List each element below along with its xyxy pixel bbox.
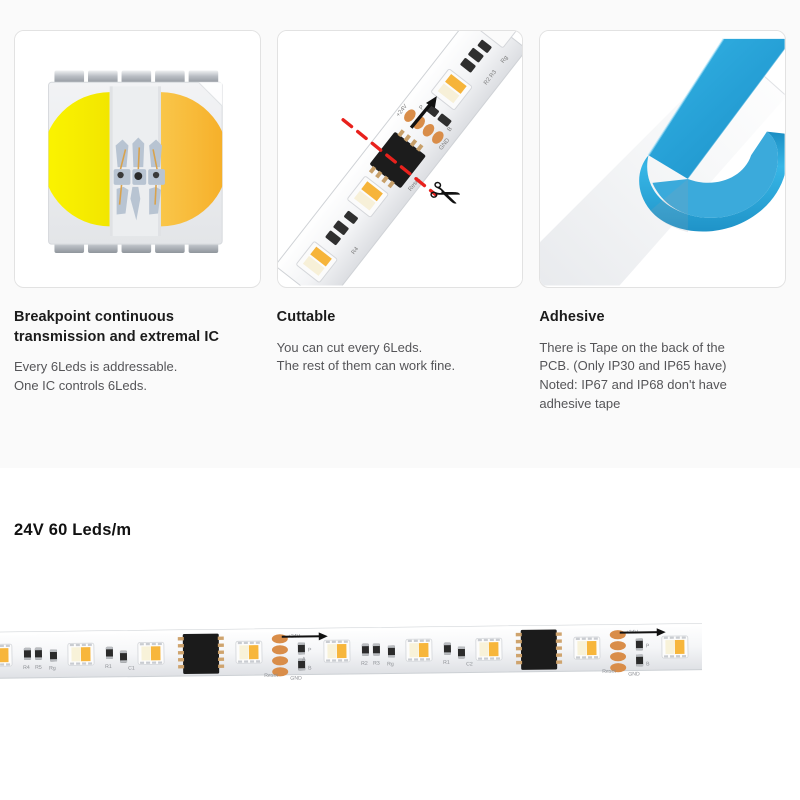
svg-text:Rg: Rg xyxy=(387,661,394,667)
svg-text:GND: GND xyxy=(628,671,640,677)
feature-title-adhesive: Adhesive xyxy=(539,308,780,328)
svg-text:B: B xyxy=(646,661,650,667)
body-line: adhesive tape xyxy=(539,395,780,414)
body-line: There is Tape on the back of the xyxy=(539,339,780,358)
svg-text:Reset: Reset xyxy=(264,673,278,679)
body-line: One IC controls 6Leds. xyxy=(14,377,255,396)
feature-body-breakpoint: Every 6Leds is addressable. One IC contr… xyxy=(14,358,255,396)
feature-cards-row: +24V GND P B R4 R2 R3 Rg Reset xyxy=(14,30,786,290)
feature-card-cuttable: +24V GND P B R4 R2 R3 Rg Reset xyxy=(277,30,524,288)
contact-pads-top xyxy=(54,70,218,83)
svg-text:R2: R2 xyxy=(361,661,368,667)
svg-text:R1: R1 xyxy=(443,660,450,666)
svg-text:B: B xyxy=(308,665,312,671)
spec-heading: 24V 60 Leds/m xyxy=(14,521,131,540)
led-strip-cut-photo: +24V GND P B R4 R2 R3 Rg Reset xyxy=(278,31,523,286)
svg-text:R1: R1 xyxy=(105,664,112,670)
feature-text-adhesive: Adhesive There is Tape on the back of th… xyxy=(539,308,786,414)
svg-text:GND: GND xyxy=(290,676,302,682)
feature-text-breakpoint: Breakpoint continuous transmission and e… xyxy=(14,308,261,414)
svg-text:P: P xyxy=(646,643,650,649)
title-line: Adhesive xyxy=(539,308,780,328)
title-line: Breakpoint continuous xyxy=(14,308,255,328)
svg-text:R4: R4 xyxy=(23,665,30,671)
feature-texts-row: Breakpoint continuous transmission and e… xyxy=(14,308,786,414)
svg-text:R3: R3 xyxy=(373,661,380,667)
led-strip-svg: R4 R5 Rg R1 C1 +24V GND P B A Reset R2 R… xyxy=(0,620,702,690)
feature-body-adhesive: There is Tape on the back of the PCB. (O… xyxy=(539,339,780,414)
svg-text:P: P xyxy=(308,647,312,653)
svg-text:C1: C1 xyxy=(128,666,135,672)
body-line: You can cut every 6Leds. xyxy=(277,339,518,358)
spec-section: 24V 60 Leds/m 100 mm 12 mm 12 mm xyxy=(0,468,800,800)
title-line: transmission and extremal IC xyxy=(14,328,255,348)
svg-text:Reset: Reset xyxy=(602,669,616,675)
feature-card-breakpoint xyxy=(14,30,261,288)
body-line: PCB. (Only IP30 and IP65 have) xyxy=(539,357,780,376)
svg-text:C2: C2 xyxy=(466,661,473,667)
title-line: Cuttable xyxy=(277,308,518,328)
led-chip-photo xyxy=(15,31,260,286)
svg-text:R5: R5 xyxy=(35,665,42,671)
feature-text-cuttable: Cuttable You can cut every 6Leds. The re… xyxy=(277,308,524,414)
body-line: The rest of them can work fine. xyxy=(277,357,518,376)
product-infographic: +24V GND P B R4 R2 R3 Rg Reset xyxy=(0,0,800,800)
feature-title-cuttable: Cuttable xyxy=(277,308,518,328)
feature-title-breakpoint: Breakpoint continuous transmission and e… xyxy=(14,308,255,347)
feature-body-cuttable: You can cut every 6Leds. The rest of the… xyxy=(277,339,518,377)
led-strip-diagram: R4 R5 Rg R1 C1 +24V GND P B A Reset R2 R… xyxy=(0,620,692,690)
features-section: +24V GND P B R4 R2 R3 Rg Reset xyxy=(0,0,800,468)
feature-card-adhesive xyxy=(539,30,786,288)
svg-text:A: A xyxy=(302,657,306,663)
svg-text:Rg: Rg xyxy=(49,666,56,672)
body-line: Noted: IP67 and IP68 don't have xyxy=(539,376,780,395)
body-line: Every 6Leds is addressable. xyxy=(14,358,255,377)
adhesive-tape-photo xyxy=(540,31,785,286)
